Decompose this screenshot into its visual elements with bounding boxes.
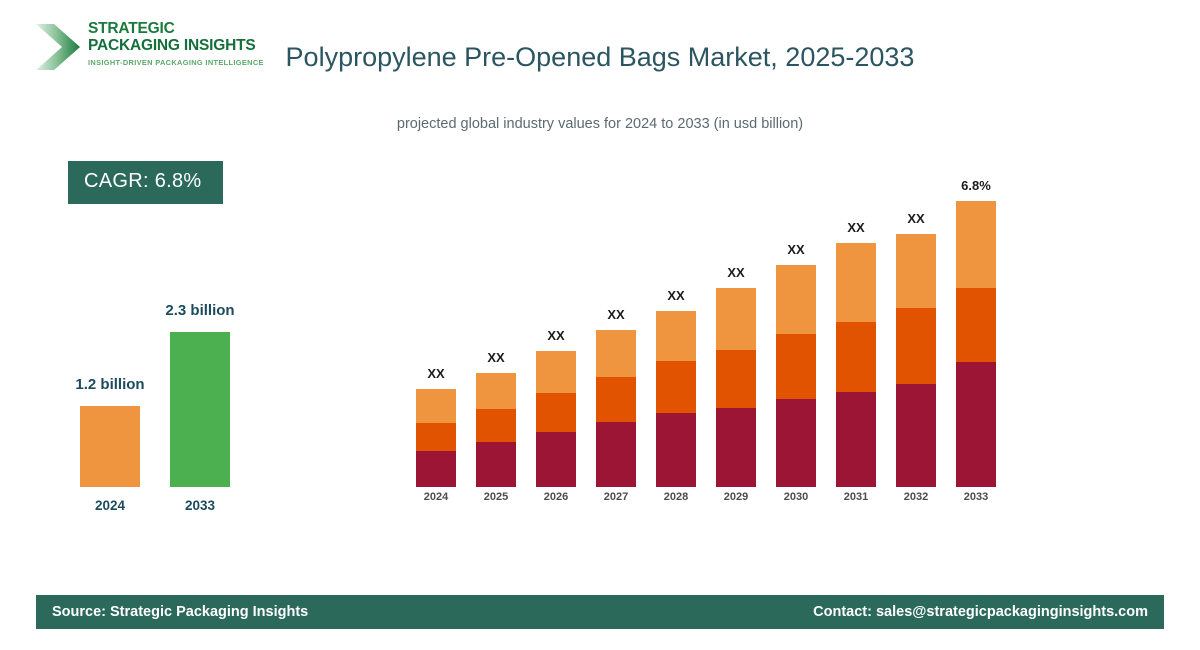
stacked-segment-segment-2 — [956, 288, 996, 362]
stacked-segment-segment-3 — [416, 389, 456, 423]
comparison-bar-fill — [170, 332, 230, 487]
stacked-bar-top-label: XX — [907, 211, 924, 226]
stacked-bar-2026: XX2026 — [536, 351, 576, 487]
stacked-bar-year-label: 2029 — [724, 491, 748, 503]
stacked-segment-segment-1 — [956, 362, 996, 487]
stacked-segment-segment-1 — [776, 399, 816, 487]
comparison-bar-value-label: 2.3 billion — [165, 302, 234, 319]
stacked-segment-segment-2 — [656, 361, 696, 413]
stacked-bar-2031: XX2031 — [836, 243, 876, 487]
stacked-bar-2030: XX2030 — [776, 265, 816, 487]
stacked-bar-2032: XX2032 — [896, 234, 936, 487]
stacked-bar-year-label: 2033 — [964, 491, 988, 503]
stacked-segment-segment-2 — [776, 334, 816, 398]
stacked-bar-top-label: XX — [607, 307, 624, 322]
stacked-bar-top-label: 6.8% — [961, 178, 991, 193]
comparison-bar-year-label: 2033 — [185, 498, 215, 513]
stacked-bar-2028: XX2028 — [656, 311, 696, 487]
stacked-segment-segment-2 — [536, 393, 576, 432]
stacked-bar-year-label: 2025 — [484, 491, 508, 503]
stacked-segment-segment-2 — [596, 377, 636, 422]
stacked-segment-segment-2 — [476, 409, 516, 442]
stacked-bar-year-label: 2024 — [424, 491, 448, 503]
stacked-bar-top-label: XX — [847, 220, 864, 235]
footer-bar: Source: Strategic Packaging Insights Con… — [36, 595, 1164, 629]
stacked-segment-segment-2 — [416, 423, 456, 452]
stacked-bar-2024: XX2024 — [416, 389, 456, 487]
stacked-bar-year-label: 2032 — [904, 491, 928, 503]
stacked-bar-top-label: XX — [427, 366, 444, 381]
stacked-segment-segment-1 — [716, 408, 756, 487]
stacked-segment-segment-3 — [956, 201, 996, 288]
stacked-segment-segment-3 — [836, 243, 876, 322]
market-size-comparison-chart: 1.2 billion20242.3 billion2033 — [0, 0, 330, 600]
stacked-bar-year-label: 2027 — [604, 491, 628, 503]
comparison-bar-fill — [80, 406, 140, 487]
stacked-segment-segment-2 — [836, 322, 876, 392]
stacked-segment-segment-1 — [416, 451, 456, 487]
stacked-bar-2029: XX2029 — [716, 288, 756, 487]
stacked-bar-year-label: 2026 — [544, 491, 568, 503]
stacked-segment-segment-3 — [476, 373, 516, 409]
stacked-segment-segment-1 — [536, 432, 576, 487]
footer-source: Source: Strategic Packaging Insights — [52, 604, 308, 620]
stacked-segment-segment-1 — [896, 384, 936, 487]
stacked-segment-segment-3 — [776, 265, 816, 334]
stacked-segment-segment-2 — [716, 350, 756, 408]
stacked-bar-top-label: XX — [667, 288, 684, 303]
stacked-bar-top-label: XX — [787, 242, 804, 257]
segment-forecast-stacked-chart: XX2024XX2025XX2026XX2027XX2028XX2029XX20… — [400, 0, 1020, 600]
stacked-bar-2027: XX2027 — [596, 330, 636, 487]
stacked-segment-segment-1 — [596, 422, 636, 487]
stacked-bar-top-label: XX — [547, 328, 564, 343]
stacked-segment-segment-3 — [536, 351, 576, 393]
stacked-segment-segment-1 — [656, 413, 696, 487]
stacked-bar-year-label: 2030 — [784, 491, 808, 503]
stacked-segment-segment-3 — [896, 234, 936, 308]
stacked-segment-segment-3 — [596, 330, 636, 377]
stacked-bar-year-label: 2031 — [844, 491, 868, 503]
comparison-bar-year-label: 2024 — [95, 498, 125, 513]
comparison-bar-2024: 1.2 billion2024 — [80, 406, 140, 487]
stacked-bar-2025: XX2025 — [476, 373, 516, 487]
comparison-bar-2033: 2.3 billion2033 — [170, 332, 230, 487]
stacked-bar-top-label: XX — [727, 265, 744, 280]
stacked-segment-segment-2 — [896, 308, 936, 384]
stacked-segment-segment-3 — [656, 311, 696, 361]
stacked-segment-segment-1 — [476, 442, 516, 487]
stacked-segment-segment-3 — [716, 288, 756, 350]
comparison-bar-value-label: 1.2 billion — [75, 376, 144, 393]
stacked-bar-2033: 6.8%2033 — [956, 201, 996, 487]
stacked-bar-year-label: 2028 — [664, 491, 688, 503]
stacked-segment-segment-1 — [836, 392, 876, 487]
footer-contact: Contact: sales@strategicpackaginginsight… — [813, 604, 1148, 620]
stacked-bar-top-label: XX — [487, 350, 504, 365]
